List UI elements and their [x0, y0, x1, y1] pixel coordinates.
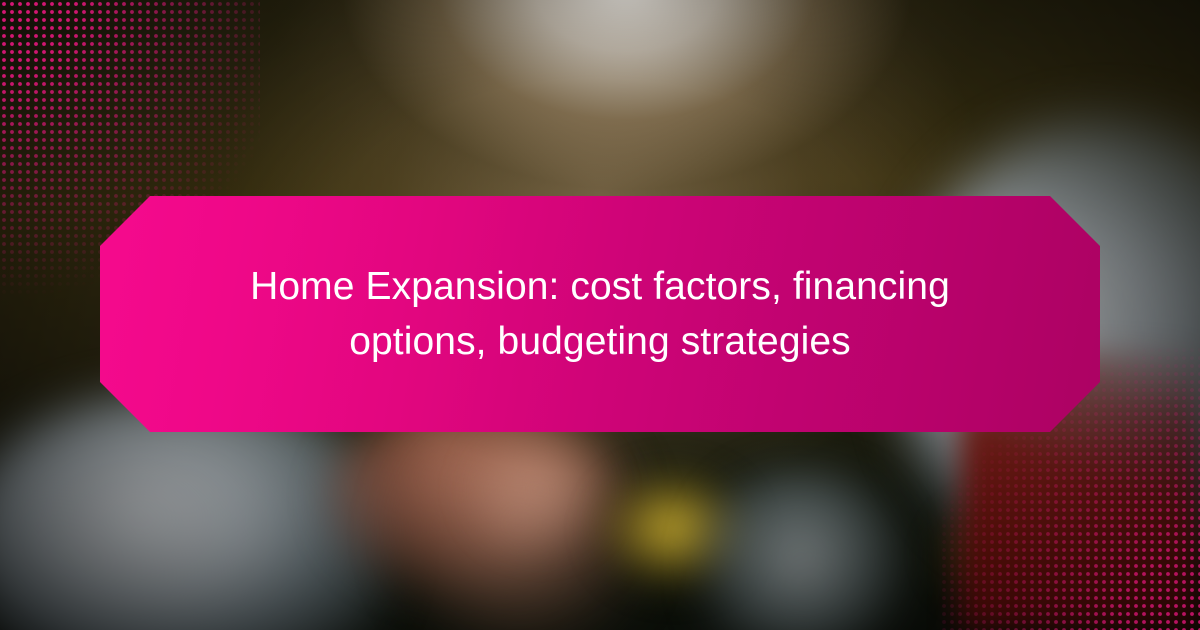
social-card-canvas: Home Expansion: cost factors, financing … — [0, 0, 1200, 630]
page-title: Home Expansion: cost factors, financing … — [160, 259, 1040, 370]
title-banner: Home Expansion: cost factors, financing … — [100, 196, 1100, 432]
